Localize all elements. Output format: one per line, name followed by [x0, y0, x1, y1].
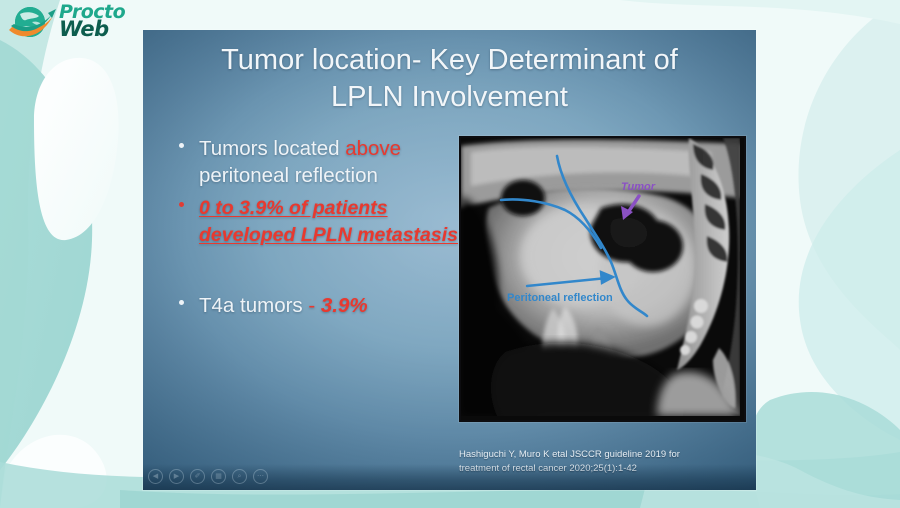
zoom-button[interactable]: ⌕ — [232, 469, 247, 484]
bullet-seg-plain-1: Tumors located — [199, 137, 345, 160]
bullet-seg-dash: - — [308, 294, 321, 317]
bullet-seg-percent: 3.9% — [321, 294, 368, 317]
sagittal-pelvic-mri[interactable]: Peritoneal reflection Tumor — [459, 136, 746, 422]
slide-title-line-1: Tumor location- Key Determinant of — [173, 42, 726, 79]
presenter-toolbar[interactable]: ◀ ▶ ✐ ▦ ⌕ ⋯ — [148, 469, 268, 484]
more-options-button[interactable]: ⋯ — [253, 469, 268, 484]
bullet-lpln-metastasis: 0 to 3.9% of patients developed LPLN met… — [171, 195, 461, 249]
bullet-spacer — [171, 255, 461, 287]
slide-title: Tumor location- Key Determinant of LPLN … — [173, 42, 726, 116]
pen-tool-button[interactable]: ✐ — [190, 469, 205, 484]
bullet-dot-icon — [179, 202, 184, 207]
slide-canvas[interactable]: Tumor location- Key Determinant of LPLN … — [143, 30, 756, 490]
slide-grid-button[interactable]: ▦ — [211, 469, 226, 484]
citation-line-1: Hashiguchi Y, Muro K etal JSCCR guidelin… — [459, 448, 756, 462]
bullet-dot-icon — [179, 143, 184, 148]
bullet-above-peritoneal-text: Tumors located above peritoneal reflecti… — [199, 136, 461, 189]
bullet-lpln-metastasis-text: 0 to 3.9% of patients developed LPLN met… — [199, 195, 461, 249]
bullet-t4a: T4a tumors - 3.9% — [171, 293, 461, 320]
bullet-seg-t4a-label: T4a tumors — [199, 294, 308, 317]
previous-slide-button[interactable]: ◀ — [148, 469, 163, 484]
bullet-seg-plain-2: peritoneal reflection — [199, 164, 378, 187]
presentation-viewer: Procto Web Tumor location- Key Determina… — [0, 0, 900, 508]
bullet-list: Tumors located above peritoneal reflecti… — [171, 136, 461, 326]
logo-wordmark: Procto Web — [59, 3, 125, 40]
globe-swoosh-icon — [6, 2, 62, 48]
next-slide-button[interactable]: ▶ — [169, 469, 184, 484]
slide-title-line-2: LPLN Involvement — [173, 79, 726, 116]
bullet-dot-icon — [179, 300, 184, 305]
mri-image-content: Peritoneal reflection Tumor — [461, 138, 740, 416]
proctoweb-logo[interactable]: Procto Web — [6, 2, 136, 50]
bullet-seg-above: above — [345, 137, 401, 160]
bullet-t4a-text: T4a tumors - 3.9% — [199, 293, 461, 320]
logo-line-2: Web — [59, 20, 125, 40]
bullet-above-peritoneal: Tumors located above peritoneal reflecti… — [171, 136, 461, 189]
